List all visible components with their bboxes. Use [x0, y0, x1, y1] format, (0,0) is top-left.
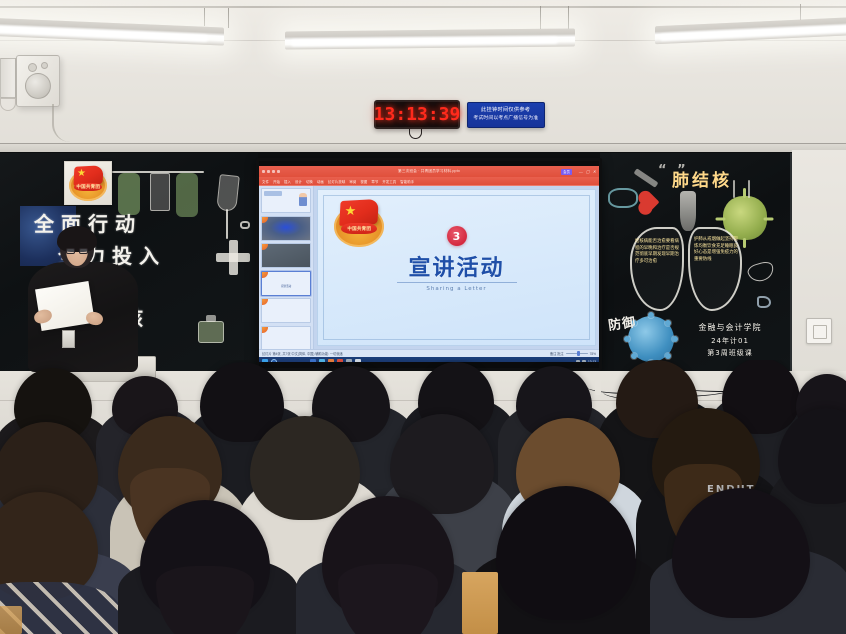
- glasses-icon: [66, 248, 88, 254]
- light-switch-panel[interactable]: [806, 318, 832, 344]
- chalk-droplet: [240, 221, 250, 229]
- slide-title: 宣讲活动: [408, 250, 504, 282]
- ribbon-tab-developer[interactable]: 开发工具: [382, 179, 396, 184]
- ribbon-tab-view[interactable]: 视图: [360, 179, 367, 184]
- thumb-badge: [261, 216, 268, 223]
- membership-badge[interactable]: 会员: [561, 169, 572, 175]
- thumb-badge: [261, 271, 268, 278]
- status-left-text: 幻灯片 第4张, 共7张 中文(简体, 中国) 辅助功能: 一切就绪: [262, 351, 343, 356]
- chalk-cross-v: [229, 240, 238, 275]
- slide-thumbnail-2[interactable]: [261, 216, 311, 241]
- wall-camera-icon: [0, 58, 16, 98]
- chalk-class-line-2: 第3周班级课: [688, 348, 772, 359]
- ribbon-tab-insert[interactable]: 插入: [284, 179, 291, 184]
- emblem-band-text: 中国共青团: [347, 225, 371, 231]
- maximize-icon[interactable]: ▢: [586, 170, 590, 174]
- slide-thumbnail-5[interactable]: [261, 298, 311, 323]
- emblem-star: ★: [77, 169, 87, 178]
- slide-thumbnail-4-active[interactable]: 宣讲活动: [261, 271, 311, 296]
- youth-league-poster: ★ 中国共青团: [64, 161, 112, 205]
- digital-wall-clock: 13:13:39: [374, 100, 460, 129]
- slide-subtitle: Sharing a Letter: [426, 286, 486, 292]
- cyl-emblem-icon: ★ 中国共青团: [69, 165, 107, 201]
- thumb-badge: [261, 243, 268, 250]
- chalk-trachea: [680, 191, 696, 231]
- thumb-figure: [299, 193, 307, 206]
- speaker-tweeter: [28, 63, 37, 72]
- slide-thumbnail-1[interactable]: [261, 188, 311, 213]
- zoom-control[interactable]: 备注 批注 78%: [550, 351, 596, 356]
- thumb-badge: [261, 326, 268, 333]
- chalk-garment: [150, 173, 170, 211]
- chalk-lung-text-left: 结核病能否治愈要看病程的早晚和治疗是否规范彻底早期发现早期治疗多可治愈: [635, 239, 681, 265]
- ppt-ribbon-tabs[interactable]: 文件 开始 插入 设计 切换 动画 幻灯片放映 审阅 视图 章节 开发工具 智能…: [259, 177, 599, 186]
- thumb-title-text: 宣讲活动: [281, 285, 291, 288]
- speaker-cone: [25, 73, 51, 99]
- clock-time: 13:13:39: [374, 104, 461, 125]
- thumb-title-block: [264, 191, 282, 196]
- emblem-band: 中国共青团: [74, 183, 101, 191]
- notes-comments-label[interactable]: 备注 批注: [550, 351, 564, 356]
- student-hair-long: [338, 564, 438, 634]
- ribbon-tab-section[interactable]: 章节: [371, 179, 378, 184]
- notice-line-2: 考试时间以考点广播信号为准: [474, 116, 539, 123]
- chalk-needle: [226, 209, 228, 239]
- ppt-document-title: 第三次班会 · 共青团员学习材料.pptx: [398, 169, 460, 174]
- slide-divider: [397, 282, 517, 283]
- quick-access-toolbar[interactable]: [262, 170, 280, 173]
- ppt-status-bar: 幻灯片 第4张, 共7张 中文(简体, 中国) 辅助功能: 一切就绪 备注 批注…: [259, 349, 599, 357]
- emblem-band: 中国共青团: [341, 223, 377, 234]
- slide-thumbnail-6[interactable]: [261, 326, 311, 350]
- desk-edge: [0, 606, 22, 634]
- slide-thumbnail-3[interactable]: [261, 243, 311, 268]
- chalk-medicine-bottle: [198, 321, 224, 343]
- classroom-scene: 13:13:39 此挂钟时间仅供参考 考试时间以考点广播信号为准 ★ 中国共青团: [0, 0, 846, 634]
- ribbon-tab-review[interactable]: 审阅: [349, 179, 356, 184]
- chalk-bottle-cap: [206, 315, 216, 322]
- slide-editing-stage[interactable]: ★ 中国共青团 3 宣讲活动 Sharing a Letter: [314, 186, 599, 349]
- chalk-class-line-1: 24年计01: [688, 336, 772, 347]
- current-slide[interactable]: ★ 中国共青团 3 宣讲活动 Sharing a Letter: [317, 189, 596, 346]
- smartboard-screen[interactable]: 第三次班会 · 共青团员学习材料.pptx 会员 — ▢ ✕ 文件 开始 插入 …: [259, 166, 599, 362]
- chalk-lungs-drawing: 结核病能否治愈要看病程的早晚和治疗是否规范彻底早期发现早期治疗多可治愈 护肺从戒…: [630, 215, 748, 311]
- emblem-band-text: 中国共青团: [76, 184, 100, 190]
- ribbon-tab-home[interactable]: 开始: [273, 179, 280, 184]
- chalk-speech-bubble: [608, 188, 638, 208]
- chalk-virus-antenna: [733, 180, 735, 198]
- ribbon-tab-transitions[interactable]: 切换: [306, 179, 313, 184]
- thumb-badge: [261, 298, 268, 305]
- id-badge: [62, 330, 75, 348]
- chalk-syringe: [216, 174, 240, 212]
- right-wall: [792, 150, 846, 380]
- ceiling-light-icon: [285, 28, 575, 49]
- window-controls[interactable]: — ▢ ✕: [579, 170, 596, 174]
- desk-edge: [462, 572, 498, 634]
- chalk-garment: [176, 173, 198, 217]
- student-hair-long: [156, 566, 254, 634]
- chalk-paper-plane: [757, 296, 771, 308]
- student-audience: PX7 ENDUT: [0, 360, 846, 634]
- minimize-icon[interactable]: —: [579, 170, 583, 174]
- light-hanger: [204, 8, 205, 26]
- speaker-port: [41, 62, 48, 69]
- zoom-slider-handle[interactable]: [577, 351, 580, 356]
- ribbon-tab-slideshow[interactable]: 幻灯片放映: [328, 179, 345, 184]
- wall-speaker-icon: [16, 55, 60, 107]
- zoom-level[interactable]: 78%: [590, 352, 596, 356]
- chalk-department: 金融与会计学院: [688, 322, 772, 334]
- zoom-slider[interactable]: [566, 353, 588, 355]
- emblem-star: ★: [344, 204, 357, 216]
- exam-notice-sign: 此挂钟时间仅供参考 考试时间以考点广播信号为准: [467, 102, 545, 128]
- ribbon-tab-design[interactable]: 设计: [295, 179, 302, 184]
- speech-paper: [35, 281, 95, 331]
- ppt-title-bar: 第三次班会 · 共青团员学习材料.pptx 会员 — ▢ ✕: [259, 166, 599, 177]
- switch-rocker[interactable]: [813, 325, 827, 339]
- chalk-virus-antenna: [748, 180, 750, 198]
- ribbon-tab-animations[interactable]: 动画: [317, 179, 324, 184]
- chalk-quote-marks: “ ”: [658, 163, 689, 178]
- slide-thumbnail-panel[interactable]: 宣讲活动: [259, 186, 314, 349]
- chalk-prevention-word: 防御: [607, 311, 637, 334]
- chalk-lung-text-right: 护肺从戒烟做起坚持锻炼均衡饮食充足睡眠良好心态是增强免疫力的重要防线: [694, 237, 740, 263]
- ribbon-help-label[interactable]: 智能助手: [400, 179, 414, 184]
- slide-cyl-emblem-icon: ★ 中国共青团: [334, 199, 384, 249]
- ceiling-seam-line: [0, 6, 846, 8]
- notice-line-1: 此挂钟时间仅供参考: [481, 108, 530, 116]
- ribbon-tab-file[interactable]: 文件: [262, 179, 269, 184]
- ppt-workspace: 宣讲活动: [259, 186, 599, 349]
- close-icon[interactable]: ✕: [593, 170, 596, 174]
- slide-section-number: 3: [447, 226, 467, 246]
- light-hanger: [228, 8, 229, 28]
